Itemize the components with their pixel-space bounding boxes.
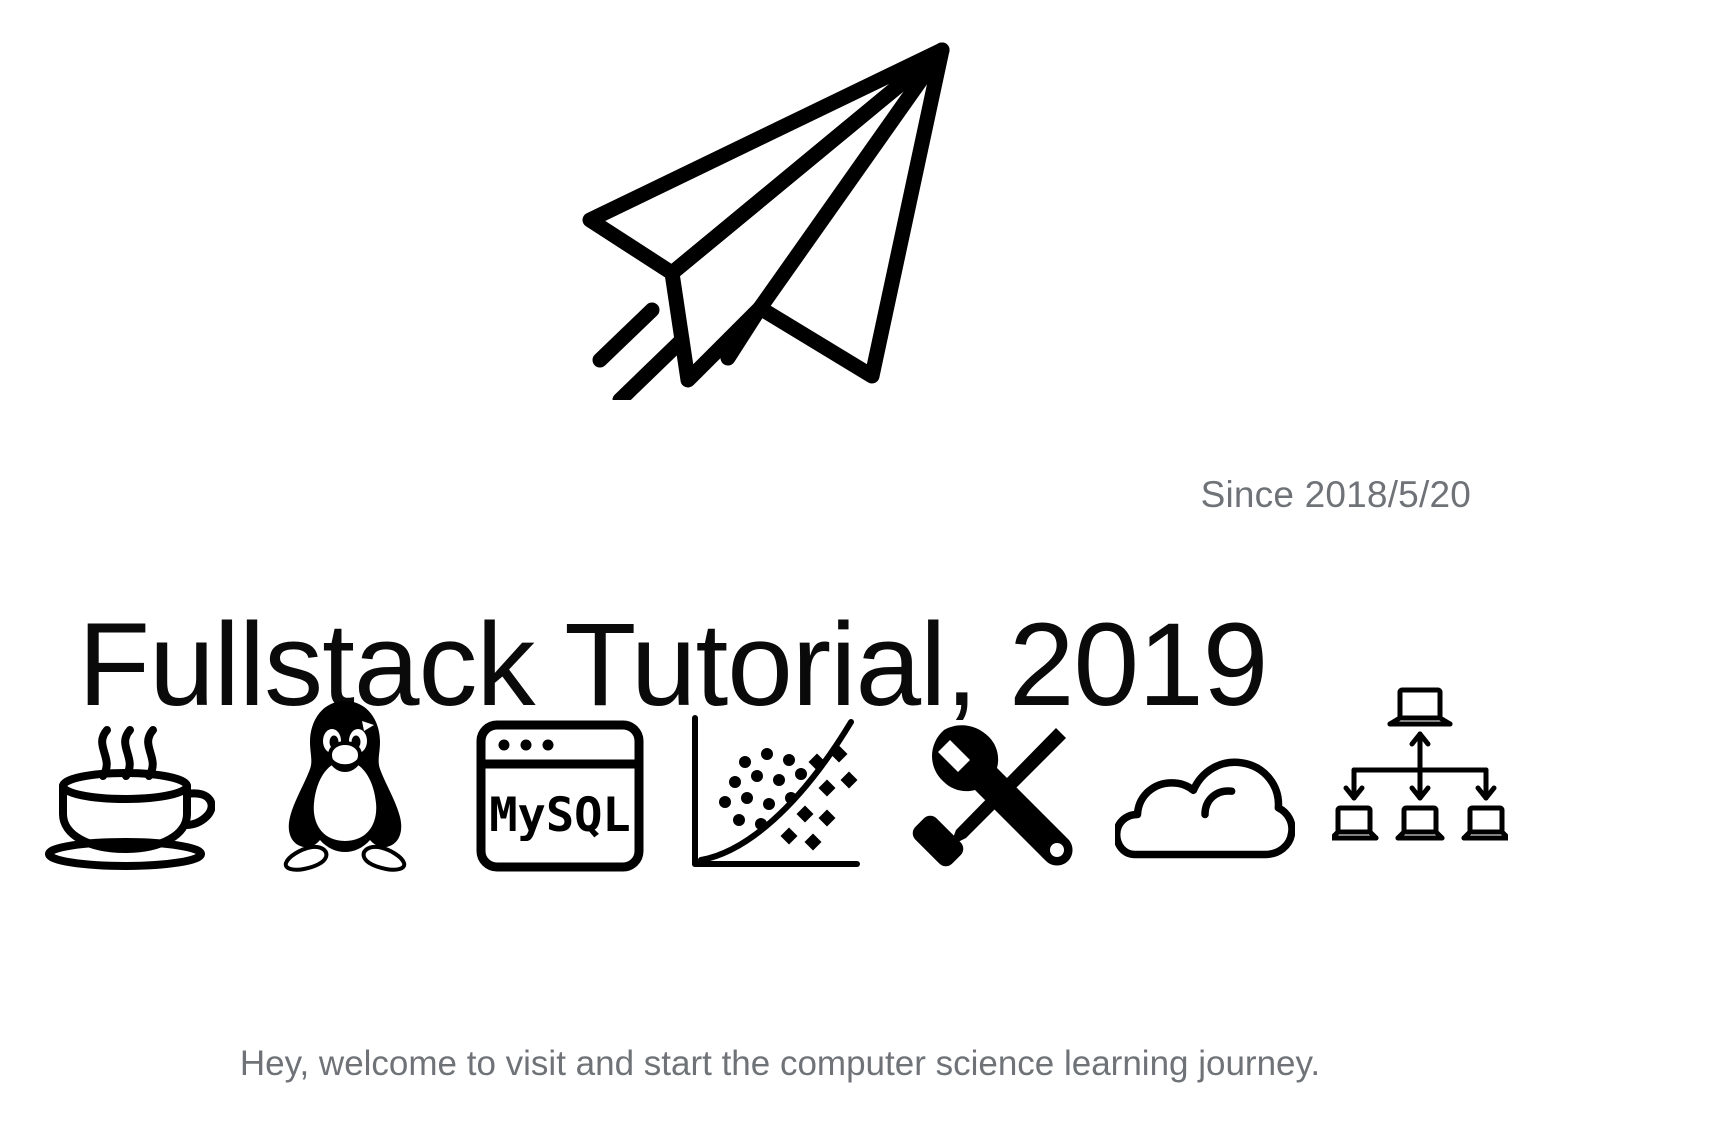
since-label: Since 2018/5/20 [80, 473, 1471, 517]
network-icon [1330, 692, 1510, 872]
mysql-label: MySQL [489, 788, 630, 843]
tools-icon [900, 692, 1080, 872]
landing-page: Since 2018/5/20 Fullstack Tutorial, 2019 [0, 0, 1720, 1148]
coffee-cup-icon [40, 692, 220, 872]
cloud-icon [1115, 692, 1295, 872]
tech-icon-strip: MySQL [40, 686, 1510, 872]
mysql-browser-icon: MySQL [470, 692, 650, 872]
linux-penguin-icon [255, 692, 435, 872]
tagline: Hey, welcome to visit and start the comp… [0, 1040, 1560, 1088]
scatter-chart-icon [685, 692, 865, 872]
paper-plane-icon [560, 28, 960, 400]
